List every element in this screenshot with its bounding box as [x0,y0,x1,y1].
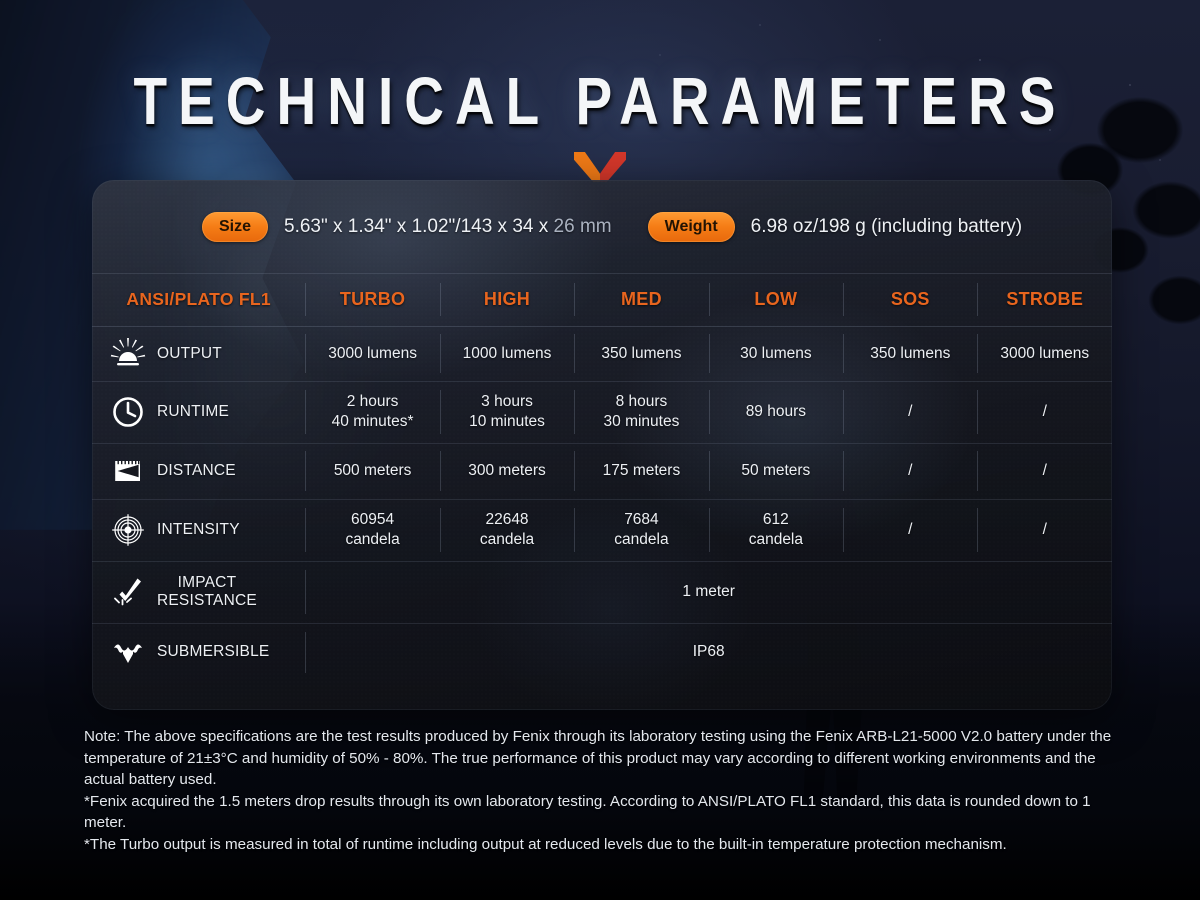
size-badge: Size [202,212,268,242]
impact-arrow-icon [110,574,146,610]
table-row-intensity: INTENSITY 60954 candela 22648 candela 76… [92,499,1112,561]
clock-icon [110,394,146,430]
cell-output-turbo: 3000 lumens [305,326,439,381]
cell-distance-strobe: / [977,443,1112,499]
column-header-med: MED [574,274,708,326]
cell-distance-low: 50 meters [709,443,843,499]
row-label-runtime: RUNTIME [92,381,305,443]
table-row-distance: DISTANCE 500 meters 300 meters 175 meter… [92,443,1112,499]
weight-badge: Weight [648,212,735,242]
cell-output-sos: 350 lumens [843,326,977,381]
column-header-high: HIGH [440,274,574,326]
page-header: TECHNICAL PARAMETERS [0,62,1200,182]
row-label-impact-resistance: IMPACT RESISTANCE [92,561,305,623]
cell-runtime-sos: / [843,381,977,443]
table-row-submersible: SUBMERSIBLE IP68 [92,623,1112,681]
cell-distance-med: 175 meters [574,443,708,499]
table-row-runtime: RUNTIME 2 hours 40 minutes* 3 hours 10 m… [92,381,1112,443]
row-label-text: SUBMERSIBLE [157,643,269,661]
row-label-output: OUTPUT [92,326,305,381]
cell-intensity-high: 22648 candela [440,499,574,561]
weight-value: 6.98 oz/198 g (including battery) [751,216,1022,238]
cell-intensity-med: 7684 candela [574,499,708,561]
spec-panel: Size 5.63" x 1.34" x 1.02"/143 x 34 x 26… [92,180,1112,710]
cell-distance-high: 300 meters [440,443,574,499]
cell-intensity-low: 612 candela [709,499,843,561]
row-label-intensity: INTENSITY [92,499,305,561]
beam-ruler-icon [110,453,146,489]
footnote-drop-test: *Fenix acquired the 1.5 meters drop resu… [84,791,1134,834]
cell-impact-resistance-value: 1 meter [305,561,1112,623]
water-splash-icon [110,634,146,670]
footnote-turbo-runtime: *The Turbo output is measured in total o… [84,834,1134,856]
row-label-text: IMPACT RESISTANCE [157,574,257,610]
table-header: ANSI/PLATO FL1 TURBO HIGH MED LOW SOS ST… [92,274,1112,326]
cell-distance-turbo: 500 meters [305,443,439,499]
row-label-distance: DISTANCE [92,443,305,499]
column-header-low: LOW [709,274,843,326]
cell-distance-sos: / [843,443,977,499]
cell-submersible-value: IP68 [305,623,1112,681]
cell-runtime-strobe: / [977,381,1112,443]
cell-runtime-low: 89 hours [709,381,843,443]
size-weight-row: Size 5.63" x 1.34" x 1.02"/143 x 34 x 26… [92,180,1112,274]
column-header-sos: SOS [843,274,977,326]
size-value: 5.63" x 1.34" x 1.02"/143 x 34 x 26 mm [284,216,612,238]
table-row-output: OUTPUT 3000 lumens 1000 lumens 350 lumen… [92,326,1112,381]
target-icon [110,512,146,548]
row-label-text: OUTPUT [157,345,222,363]
cell-runtime-high: 3 hours 10 minutes [440,381,574,443]
sunburst-icon [110,336,146,372]
column-header-turbo: TURBO [305,274,439,326]
cell-intensity-sos: / [843,499,977,561]
row-label-text: DISTANCE [157,462,236,480]
page-title: TECHNICAL PARAMETERS [134,62,1067,140]
cell-runtime-turbo: 2 hours 40 minutes* [305,381,439,443]
cell-output-high: 1000 lumens [440,326,574,381]
cell-output-strobe: 3000 lumens [977,326,1112,381]
row-label-submersible: SUBMERSIBLE [92,623,305,681]
footnotes: Note: The above specifications are the t… [84,726,1134,855]
column-header-strobe: STROBE [977,274,1112,326]
row-label-text: INTENSITY [157,521,240,539]
cell-intensity-turbo: 60954 candela [305,499,439,561]
row-label-text: RUNTIME [157,403,229,421]
cell-runtime-med: 8 hours 30 minutes [574,381,708,443]
table-row-impact-resistance: IMPACT RESISTANCE 1 meter [92,561,1112,623]
cell-output-low: 30 lumens [709,326,843,381]
chevron-down-icon [574,152,626,182]
footnote-general: Note: The above specifications are the t… [84,726,1134,791]
column-header-standard: ANSI/PLATO FL1 [92,274,305,326]
cell-output-med: 350 lumens [574,326,708,381]
specification-table: ANSI/PLATO FL1 TURBO HIGH MED LOW SOS ST… [92,274,1112,681]
cell-intensity-strobe: / [977,499,1112,561]
